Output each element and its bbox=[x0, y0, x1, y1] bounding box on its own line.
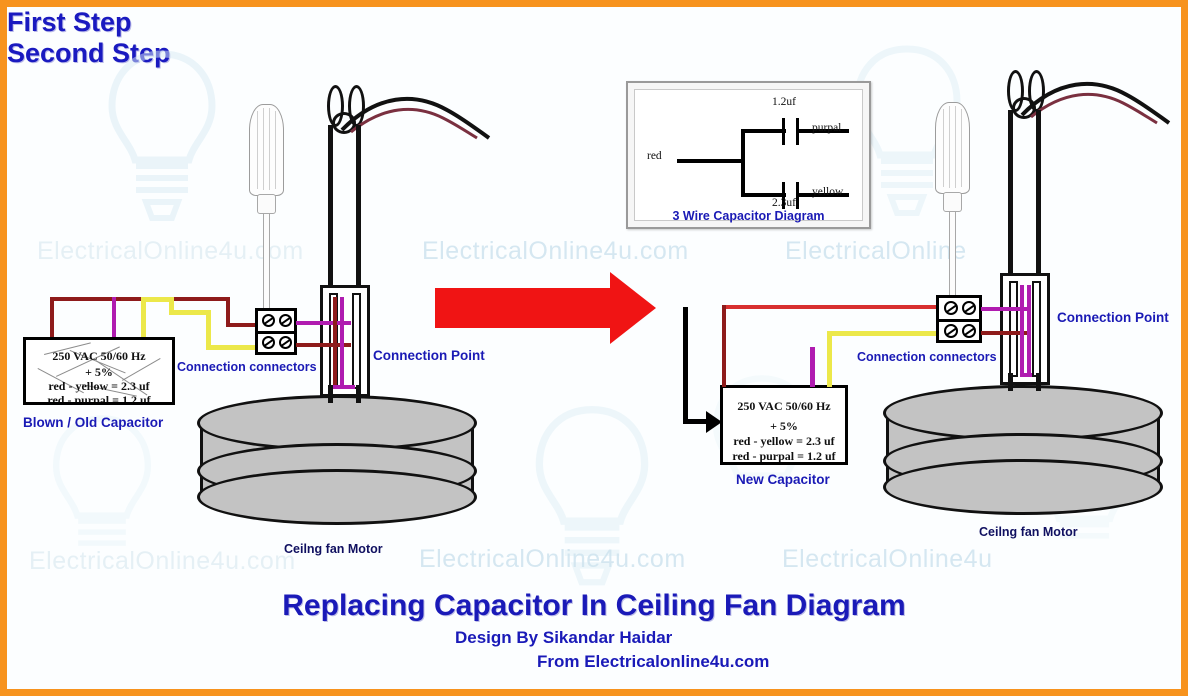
downrod bbox=[356, 125, 361, 285]
watermark-text: ElectricalOnline4u.com bbox=[422, 237, 689, 266]
watermark-text: ElectricalOnline4u.com bbox=[29, 547, 296, 576]
capacitor-plate bbox=[782, 118, 785, 145]
schematic-bottom-value: 2.3uf bbox=[772, 197, 796, 209]
terminal-screw-icon bbox=[944, 301, 958, 315]
new-capacitor-box: 250 VAC 50/60 Hz + 5% red - yellow = 2.3… bbox=[720, 385, 848, 465]
right-connection-connectors-label: Connection connectors bbox=[857, 350, 997, 364]
schematic-bottom-output: yellow bbox=[812, 186, 843, 198]
old-capacitor-line2: + 5% bbox=[26, 365, 172, 380]
schematic-top-value: 1.2uf bbox=[772, 96, 796, 108]
red-wire bbox=[722, 305, 938, 309]
schematic-input-label: red bbox=[647, 150, 662, 162]
left-motor-label: Ceilng fan Motor bbox=[284, 542, 383, 556]
purple-wire bbox=[333, 385, 355, 389]
purple-wire bbox=[1020, 373, 1032, 377]
right-terminal-block bbox=[936, 295, 982, 343]
red-wire bbox=[50, 297, 54, 339]
left-connection-connectors-label: Connection connectors bbox=[177, 360, 317, 374]
new-capacitor-line4: red - purpal = 1.2 uf bbox=[723, 449, 845, 464]
terminal-screw-icon bbox=[262, 336, 275, 349]
motor-stem bbox=[356, 385, 361, 403]
old-capacitor-line1: 250 VAC 50/60 Hz bbox=[26, 349, 172, 364]
purple-wire bbox=[112, 297, 116, 339]
old-capacitor-box: 250 VAC 50/60 Hz + 5% red - yellow = 2.3… bbox=[23, 337, 175, 405]
yellow-wire bbox=[169, 310, 211, 315]
supply-cable bbox=[1017, 77, 1177, 137]
first-step-title: First Step bbox=[7, 7, 1181, 38]
schematic-wire bbox=[741, 129, 786, 133]
connection-point-inner bbox=[1032, 281, 1041, 377]
motor-stem bbox=[1036, 373, 1041, 391]
motor-stem bbox=[1008, 373, 1013, 391]
yellow-wire bbox=[206, 310, 211, 349]
right-connection-point-label: Connection Point bbox=[1057, 310, 1169, 325]
red-wire bbox=[50, 297, 230, 301]
watermark-text: ElectricalOnline4u bbox=[782, 545, 993, 574]
new-capacitor-line3: red - yellow = 2.3 uf bbox=[723, 434, 845, 449]
downrod bbox=[1036, 110, 1041, 273]
terminal-screw-icon bbox=[944, 324, 958, 338]
connection-point-housing bbox=[320, 285, 370, 397]
bulb-watermark-icon bbox=[102, 42, 222, 232]
connection-point-inner bbox=[1009, 281, 1018, 377]
purple-wire bbox=[810, 347, 815, 387]
old-capacitor-line4: red - purpal = 1.2 uf bbox=[26, 393, 172, 405]
schematic-caption: 3 Wire Capacitor Diagram bbox=[635, 209, 862, 223]
new-capacitor-line1: 250 VAC 50/60 Hz bbox=[723, 399, 845, 414]
watermark-text: ElectricalOnline bbox=[785, 237, 967, 266]
red-wire bbox=[333, 297, 337, 387]
terminal-screw-icon bbox=[962, 301, 976, 315]
ceiling-fan-motor bbox=[197, 395, 479, 535]
watermark-text: ElectricalOnline4u.com bbox=[419, 545, 686, 574]
terminal-screw-icon bbox=[262, 314, 275, 327]
yellow-wire bbox=[827, 331, 939, 336]
source-credit: From Electricalonline4u.com bbox=[537, 652, 769, 672]
old-capacitor-line3: red - yellow = 2.3 uf bbox=[26, 379, 172, 394]
connection-point-housing bbox=[1000, 273, 1050, 385]
connection-point-inner bbox=[352, 293, 361, 389]
left-terminal-block bbox=[255, 308, 297, 355]
schematic-top-output: purpal bbox=[812, 122, 841, 134]
purple-wire bbox=[340, 297, 344, 387]
three-wire-capacitor-diagram-box: red 1.2uf purpal 2.3uf yellow 3 Wire Cap… bbox=[626, 81, 871, 229]
black-arrow-segment bbox=[683, 419, 708, 424]
diagram-canvas: ElectricalOnline4u.com ElectricalOnline4… bbox=[7, 7, 1181, 689]
left-connection-point-label: Connection Point bbox=[373, 348, 485, 363]
schematic-wire bbox=[677, 159, 745, 163]
main-title: Replacing Capacitor In Ceiling Fan Diagr… bbox=[7, 589, 1181, 623]
right-motor-label: Ceilng fan Motor bbox=[979, 525, 1078, 539]
yellow-wire bbox=[827, 331, 832, 387]
red-wire bbox=[226, 297, 230, 326]
red-arrow-head-icon bbox=[610, 272, 656, 344]
yellow-wire bbox=[141, 297, 146, 339]
terminal-screw-icon bbox=[279, 336, 292, 349]
ceiling-fan-motor bbox=[883, 385, 1165, 525]
design-credit: Design By Sikandar Haidar bbox=[455, 628, 672, 648]
diagram-page: ElectricalOnline4u.com ElectricalOnline4… bbox=[0, 0, 1188, 696]
red-arrow-shaft bbox=[435, 288, 610, 328]
downrod bbox=[328, 125, 333, 285]
yellow-wire bbox=[206, 345, 260, 350]
old-capacitor-label: Blown / Old Capacitor bbox=[23, 415, 163, 430]
red-wire bbox=[722, 305, 726, 387]
supply-cable bbox=[337, 92, 497, 152]
purple-wire bbox=[1020, 285, 1024, 375]
black-arrow-segment bbox=[683, 307, 688, 423]
schematic-wire bbox=[741, 129, 745, 197]
new-capacitor-line2: + 5% bbox=[723, 419, 845, 434]
terminal-screw-icon bbox=[279, 314, 292, 327]
downrod bbox=[1008, 110, 1013, 273]
purple-wire bbox=[1027, 285, 1031, 375]
terminal-screw-icon bbox=[962, 324, 976, 338]
new-capacitor-label: New Capacitor bbox=[736, 472, 830, 487]
